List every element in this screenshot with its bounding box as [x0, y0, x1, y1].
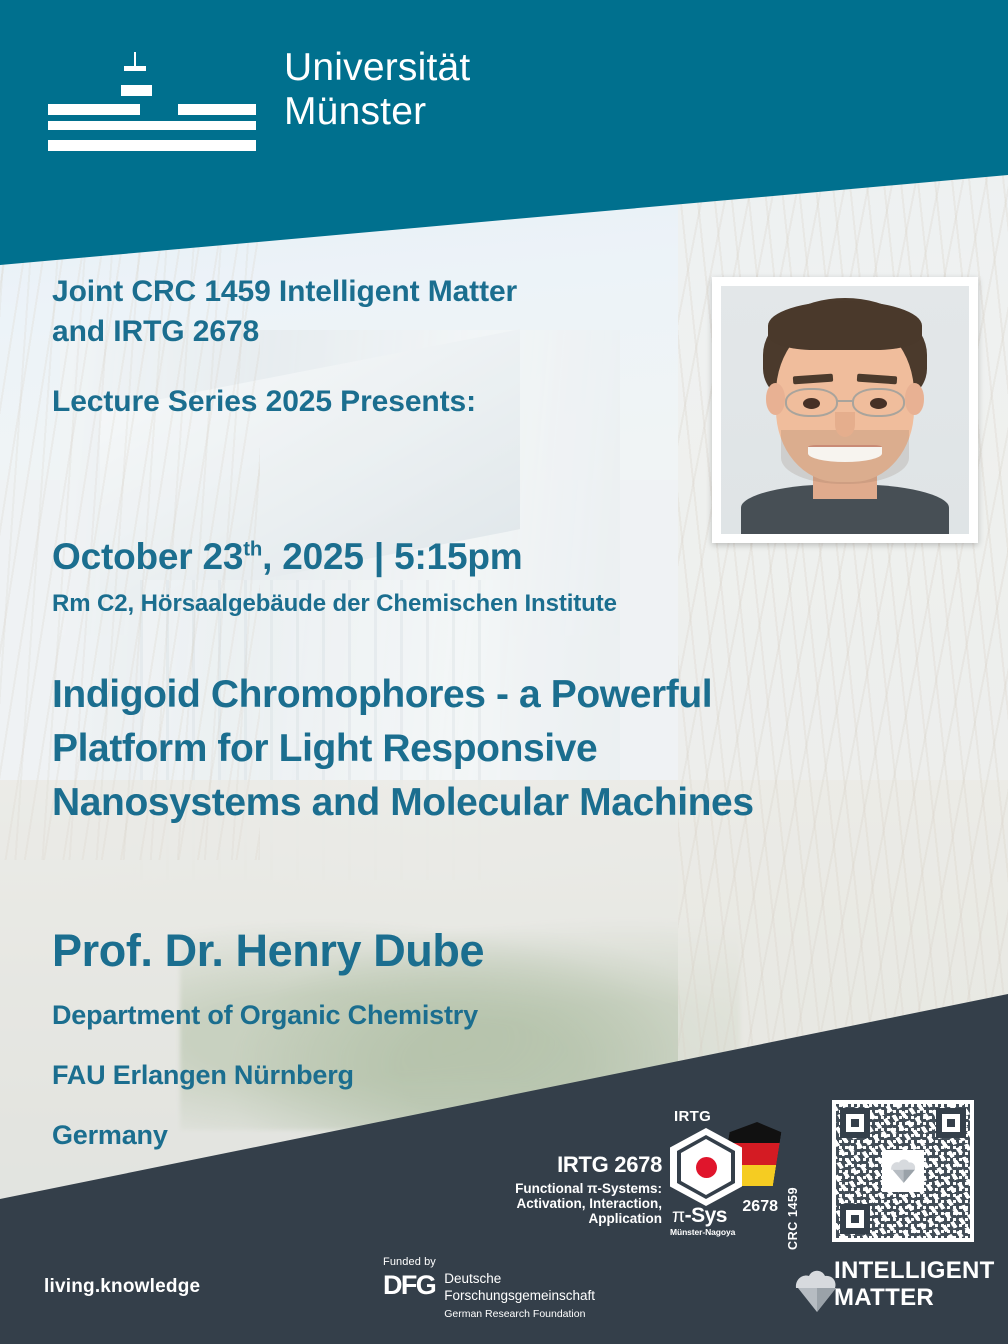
- headline-line1: Joint CRC 1459 Intelligent Matter: [52, 272, 672, 312]
- dfg-name-line2: Forschungsgemeinschaft: [444, 1288, 595, 1304]
- event-time: , 2025 | 5:15pm: [262, 536, 522, 577]
- intelligent-matter-line2: MATTER: [834, 1285, 995, 1312]
- irtg-subtitle-line2: Activation, Interaction, Application: [472, 1196, 662, 1226]
- pi-sys-wordmark: π-Sys: [672, 1204, 727, 1228]
- japan-flag-dot: [696, 1157, 717, 1178]
- speaker-photo: [712, 277, 978, 543]
- intelligent-matter-name: INTELLIGENT MATTER: [834, 1258, 995, 1312]
- irtg-logo-number: 2678: [742, 1198, 778, 1216]
- crc-number-label: CRC 1459: [786, 1187, 800, 1250]
- event-datetime: October 23th, 2025 | 5:15pm: [52, 536, 812, 578]
- irtg-subtitle-line1: Functional π-Systems:: [472, 1181, 662, 1196]
- eyeglasses-left-lens: [785, 388, 837, 418]
- intelligent-matter-cloud-icon: [882, 1150, 924, 1192]
- poster-content: Joint CRC 1459 Intelligent Matter and IR…: [0, 0, 1008, 1344]
- irtg-logo-label: IRTG: [674, 1108, 711, 1125]
- sys-text: -Sys: [685, 1204, 727, 1227]
- dfg-name-line1: Deutsche: [444, 1271, 595, 1287]
- event-date-ordinal: th: [243, 539, 262, 561]
- talk-title: Indigoid Chromophores - a Powerful Platf…: [52, 668, 962, 831]
- event-date: October 23: [52, 536, 243, 577]
- irtg-title: IRTG 2678: [472, 1152, 662, 1178]
- eyeglasses-right-lens: [852, 388, 904, 418]
- headline-line2: and IRTG 2678: [52, 312, 672, 352]
- speaker-institution: FAU Erlangen Nürnberg: [52, 1062, 752, 1089]
- series-headline: Joint CRC 1459 Intelligent Matter and IR…: [52, 272, 672, 422]
- irtg-block: IRTG 2678 Functional π-Systems: Activati…: [470, 1108, 780, 1233]
- pi-sys-cities: Münster-Nagoya: [670, 1227, 735, 1237]
- headline-line3: Lecture Series 2025 Presents:: [52, 382, 672, 422]
- dfg-logo: Funded by DFG Deutsche Forschungsgemeins…: [383, 1256, 643, 1320]
- intelligent-matter-line1: INTELLIGENT: [834, 1258, 995, 1285]
- talk-title-line1: Indigoid Chromophores - a Powerful: [52, 668, 962, 722]
- irtg-text: IRTG 2678 Functional π-Systems: Activati…: [472, 1152, 662, 1226]
- crc-block: CRC 1459 INTELLIGENT MATTER: [808, 1100, 998, 1332]
- speaker-name: Prof. Dr. Henry Dube: [52, 925, 484, 977]
- dfg-name-english: German Research Foundation: [444, 1308, 595, 1320]
- lecture-poster: Universität Münster Joint CRC 1459 Intel…: [0, 0, 1008, 1344]
- living-knowledge-tagline: living.knowledge: [44, 1276, 200, 1298]
- speaker-photo-image: [721, 286, 969, 534]
- talk-title-line3: Nanosystems and Molecular Machines: [52, 776, 962, 830]
- irtg-logo-icon: IRTG 2678 π-Sys Münster-Nagoya: [668, 1108, 780, 1233]
- japan-hexagon-icon: [670, 1128, 742, 1206]
- dfg-funded-by: Funded by: [383, 1256, 643, 1268]
- dfg-wordmark: DFG: [383, 1272, 435, 1299]
- speaker-department: Department of Organic Chemistry: [52, 1002, 752, 1029]
- event-venue: Rm C2, Hörsaalgebäude der Chemischen Ins…: [52, 590, 852, 618]
- qr-code[interactable]: [832, 1100, 974, 1242]
- talk-title-line2: Platform for Light Responsive: [52, 722, 962, 776]
- pi-symbol: π: [672, 1206, 685, 1227]
